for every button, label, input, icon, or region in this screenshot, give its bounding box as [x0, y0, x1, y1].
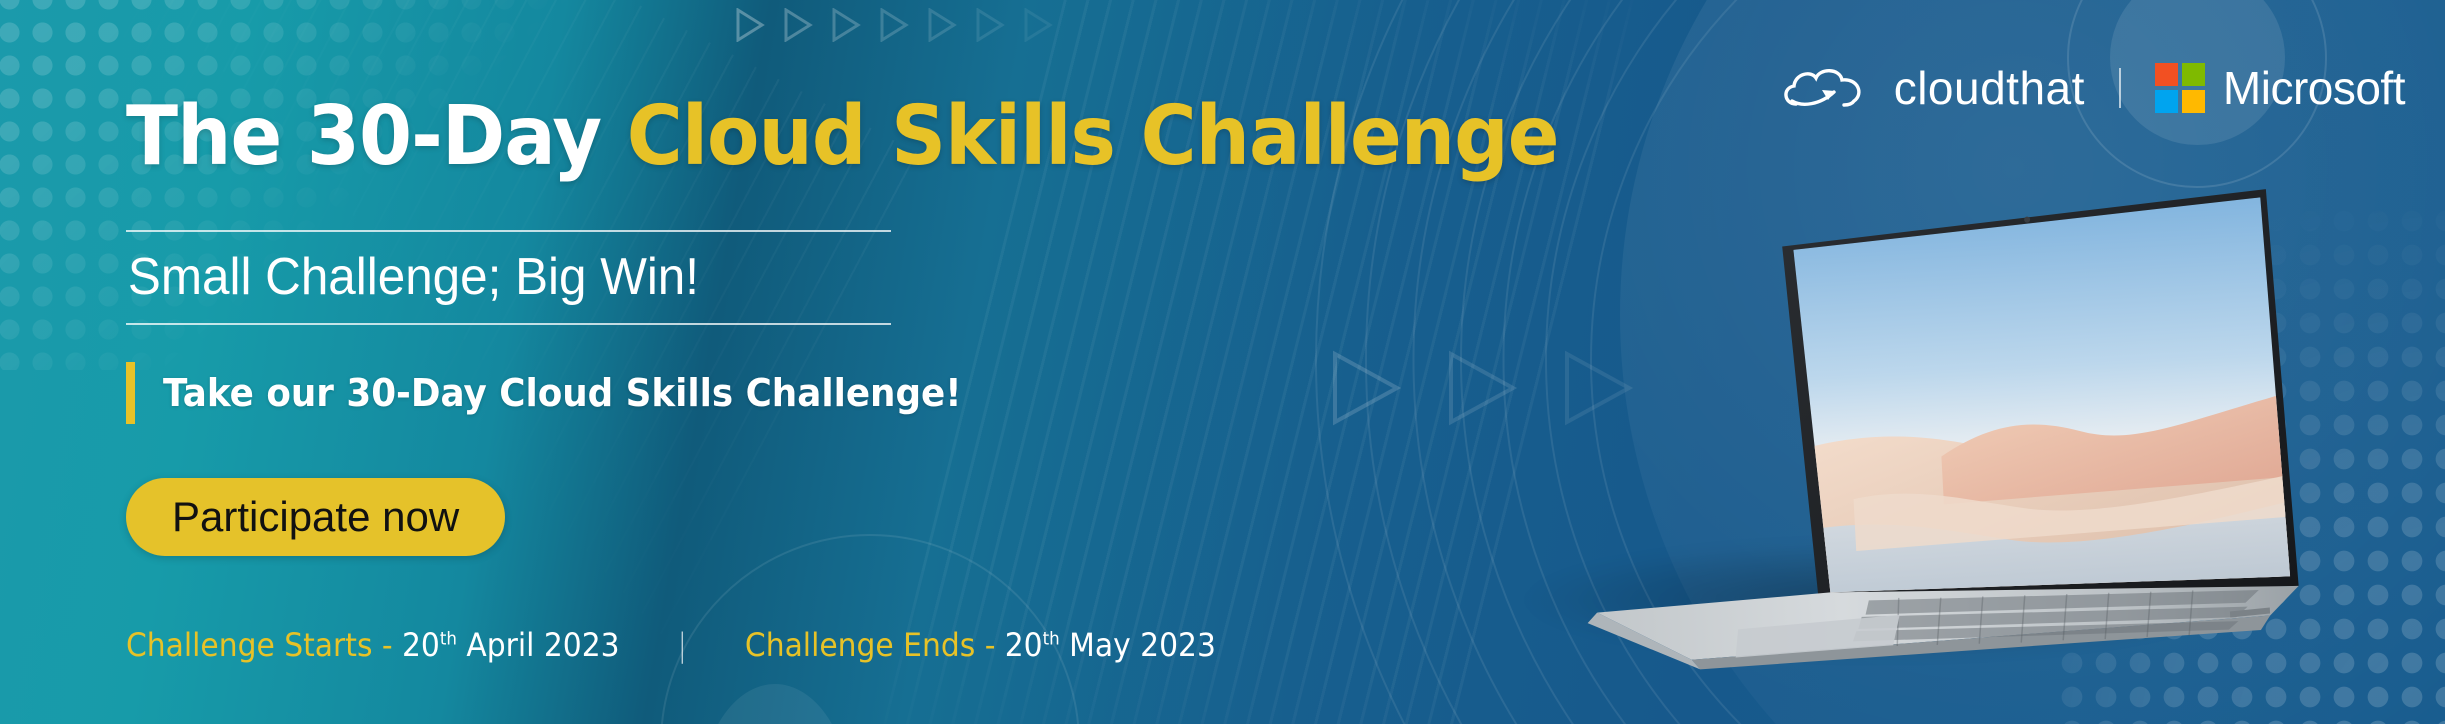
ms-square-green — [2182, 63, 2205, 86]
microsoft-squares-icon — [2155, 63, 2205, 113]
start-day: 20 — [402, 626, 440, 664]
challenge-end-date: Challenge Ends - 20th May 2023 — [745, 626, 1216, 664]
challenge-end-label: Challenge Ends - — [745, 626, 996, 664]
cloudthat-wordmark: cloudthat — [1894, 61, 2085, 115]
end-ordinal: th — [1043, 628, 1060, 649]
challenge-end-value: 20th May 2023 — [1005, 626, 1216, 664]
ms-square-blue — [2155, 90, 2178, 113]
content-layer: The 30-Day Cloud Skills Challenge Small … — [0, 0, 2445, 724]
subtitle: Small Challenge; Big Win! — [126, 232, 853, 323]
challenge-start-date: Challenge Starts - 20th April 2023 — [126, 626, 620, 664]
start-month-year: April 2023 — [466, 626, 619, 664]
challenge-dates: Challenge Starts - 20th April 2023 | Cha… — [126, 626, 1216, 664]
tagline-text: Take our 30-Day Cloud Skills Challenge! — [163, 371, 962, 415]
page-title: The 30-Day Cloud Skills Challenge — [126, 96, 1559, 178]
tagline-block: Take our 30-Day Cloud Skills Challenge! — [126, 362, 1013, 424]
end-day: 20 — [1005, 626, 1043, 664]
start-ordinal: th — [440, 628, 457, 649]
subtitle-rule-bottom — [126, 323, 891, 325]
challenge-start-value: 20th April 2023 — [402, 626, 620, 664]
dates-separator: | — [677, 626, 687, 664]
headline-yellow-part: Cloud Skills Challenge — [627, 89, 1559, 184]
challenge-start-label: Challenge Starts - — [126, 626, 393, 664]
ms-square-yellow — [2182, 90, 2205, 113]
subtitle-block: Small Challenge; Big Win! — [126, 230, 891, 325]
end-month-year: May 2023 — [1069, 626, 1216, 664]
ms-square-red — [2155, 63, 2178, 86]
cloud-skills-challenge-banner: The 30-Day Cloud Skills Challenge Small … — [0, 0, 2445, 724]
logo-separator — [2119, 68, 2121, 108]
cloud-arrow-icon — [1778, 60, 1874, 116]
tagline-accent-bar — [126, 362, 135, 424]
logo-bar: cloudthat Microsoft — [1778, 60, 2405, 116]
participate-now-button[interactable]: Participate now — [126, 478, 505, 556]
headline-white-part: The 30-Day — [126, 89, 627, 184]
microsoft-logo[interactable]: Microsoft — [2155, 61, 2405, 115]
cloudthat-logo[interactable]: cloudthat — [1778, 60, 2085, 116]
microsoft-wordmark: Microsoft — [2223, 61, 2405, 115]
